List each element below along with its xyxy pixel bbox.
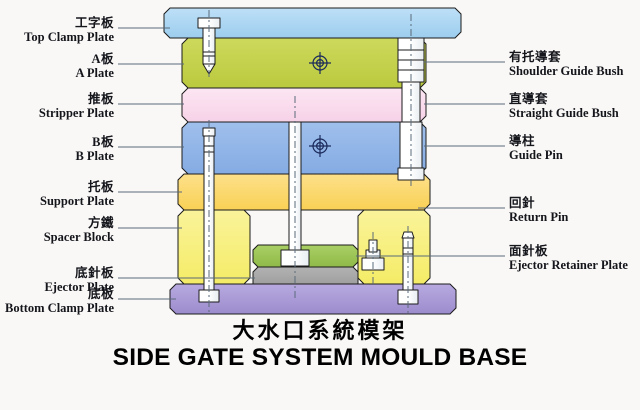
diagram-title: 大水口系統模架 SIDE GATE SYSTEM MOULD BASE — [0, 318, 640, 372]
diagram-title-cn: 大水口系統模架 — [0, 318, 640, 344]
label-straight-guide-bush-cn: 直導套 — [509, 93, 619, 106]
label-stripper-plate-cn: 推板 — [39, 93, 114, 106]
label-bottom-clamp-plate-en: Bottom Clamp Plate — [5, 301, 114, 315]
label-top-clamp-plate-en: Top Clamp Plate — [24, 30, 114, 44]
label-bottom-clamp-plate: 底板 Bottom Clamp Plate — [5, 288, 114, 315]
label-bottom-clamp-plate-cn: 底板 — [5, 288, 114, 301]
label-shoulder-guide-bush-en: Shoulder Guide Bush — [509, 64, 623, 78]
diagram-title-en: SIDE GATE SYSTEM MOULD BASE — [0, 344, 640, 372]
label-ejector-retainer-plate: 面針板 Ejector Retainer Plate — [509, 245, 628, 272]
label-ejector-retainer-plate-cn: 面針板 — [509, 245, 628, 258]
label-shoulder-guide-bush-cn: 有托導套 — [509, 51, 623, 64]
label-support-plate: 托板 Support Plate — [40, 181, 114, 208]
label-a-plate-en: A Plate — [75, 66, 114, 80]
label-guide-pin-cn: 導柱 — [509, 135, 563, 148]
label-guide-pin: 導柱 Guide Pin — [509, 135, 563, 162]
label-stripper-plate: 推板 Stripper Plate — [39, 93, 114, 120]
label-return-pin: 回針 Return Pin — [509, 197, 568, 224]
label-b-plate-en: B Plate — [75, 149, 114, 163]
plate-support — [178, 174, 430, 210]
label-straight-guide-bush: 直導套 Straight Guide Bush — [509, 93, 619, 120]
label-ejector-plate-cn: 底針板 — [44, 267, 114, 280]
label-spacer-block: 方鐵 Spacer Block — [44, 217, 114, 244]
label-return-pin-en: Return Pin — [509, 210, 568, 224]
label-guide-pin-en: Guide Pin — [509, 148, 563, 162]
mould-base-diagram-page: 工字板 Top Clamp Plate A板 A Plate 推板 Stripp… — [0, 0, 640, 410]
label-stripper-plate-en: Stripper Plate — [39, 106, 114, 120]
label-support-plate-en: Support Plate — [40, 194, 114, 208]
label-b-plate-cn: B板 — [75, 136, 114, 149]
label-spacer-block-en: Spacer Block — [44, 230, 114, 244]
plate-stripper — [182, 88, 426, 122]
label-a-plate: A板 A Plate — [75, 53, 114, 80]
label-support-plate-cn: 托板 — [40, 181, 114, 194]
label-b-plate: B板 B Plate — [75, 136, 114, 163]
label-straight-guide-bush-en: Straight Guide Bush — [509, 106, 619, 120]
label-spacer-block-cn: 方鐵 — [44, 217, 114, 230]
plate-a — [182, 38, 426, 88]
label-top-clamp-plate-cn: 工字板 — [24, 17, 114, 30]
label-return-pin-cn: 回針 — [509, 197, 568, 210]
label-top-clamp-plate: 工字板 Top Clamp Plate — [24, 17, 114, 44]
plate-b — [182, 122, 426, 174]
label-a-plate-cn: A板 — [75, 53, 114, 66]
label-shoulder-guide-bush: 有托導套 Shoulder Guide Bush — [509, 51, 623, 78]
label-ejector-retainer-plate-en: Ejector Retainer Plate — [509, 258, 628, 272]
